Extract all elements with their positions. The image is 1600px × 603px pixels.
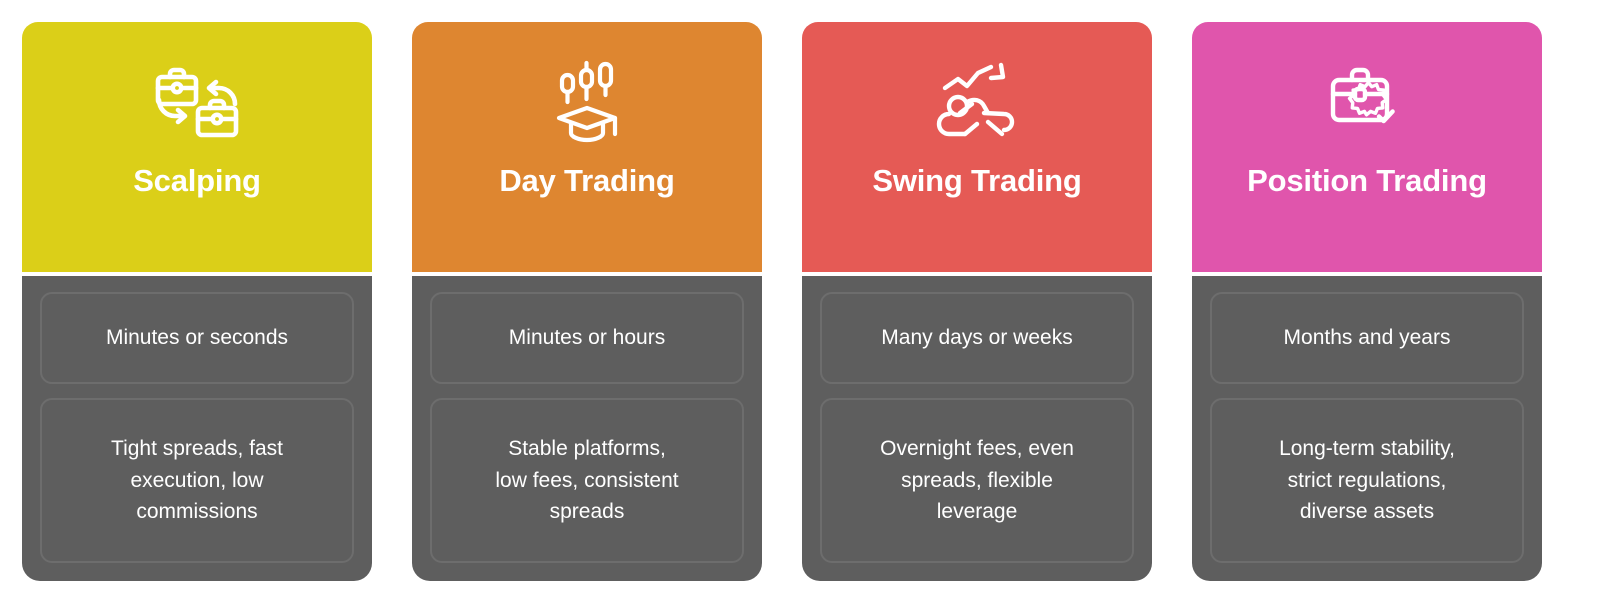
card-header-scalping: Scalping (22, 22, 372, 272)
card-scalping[interactable]: Scalping Minutes or seconds Tight spread… (22, 22, 372, 581)
card-title-position-trading: Position Trading (1247, 160, 1487, 203)
features-box-day-trading: Stable platforms, low fees, consistent s… (430, 398, 744, 563)
timeframe-box-swing-trading: Many days or weeks (820, 292, 1134, 384)
running-person-uptrend-icon (931, 60, 1023, 144)
card-header-position-trading: Position Trading (1192, 22, 1542, 272)
features-box-position-trading: Long-term stability, strict regulations,… (1210, 398, 1524, 563)
features-box-swing-trading: Overnight fees, even spreads, flexible l… (820, 398, 1134, 563)
card-body-position-trading: Months and years Long-term stability, st… (1192, 276, 1542, 581)
card-body-day-trading: Minutes or hours Stable platforms, low f… (412, 276, 762, 581)
timeframe-box-position-trading: Months and years (1210, 292, 1524, 384)
card-title-day-trading: Day Trading (499, 160, 674, 203)
card-title-scalping: Scalping (133, 160, 261, 203)
card-body-swing-trading: Many days or weeks Overnight fees, even … (802, 276, 1152, 581)
card-title-swing-trading: Swing Trading (872, 160, 1081, 203)
briefcase-swap-icon (151, 60, 243, 144)
timeframe-box-day-trading: Minutes or hours (430, 292, 744, 384)
timeframe-box-scalping: Minutes or seconds (40, 292, 354, 384)
features-box-scalping: Tight spreads, fast execution, low commi… (40, 398, 354, 563)
card-position-trading[interactable]: Position Trading Months and years Long-t… (1192, 22, 1542, 581)
card-header-swing-trading: Swing Trading (802, 22, 1152, 272)
card-swing-trading[interactable]: Swing Trading Many days or weeks Overnig… (802, 22, 1152, 581)
briefcase-verified-badge-icon (1321, 60, 1413, 144)
card-body-scalping: Minutes or seconds Tight spreads, fast e… (22, 276, 372, 581)
trading-styles-comparison-board: Scalping Minutes or seconds Tight spread… (0, 0, 1600, 603)
candlestick-graduation-cap-icon (541, 60, 633, 144)
card-day-trading[interactable]: Day Trading Minutes or hours Stable plat… (412, 22, 762, 581)
card-header-day-trading: Day Trading (412, 22, 762, 272)
